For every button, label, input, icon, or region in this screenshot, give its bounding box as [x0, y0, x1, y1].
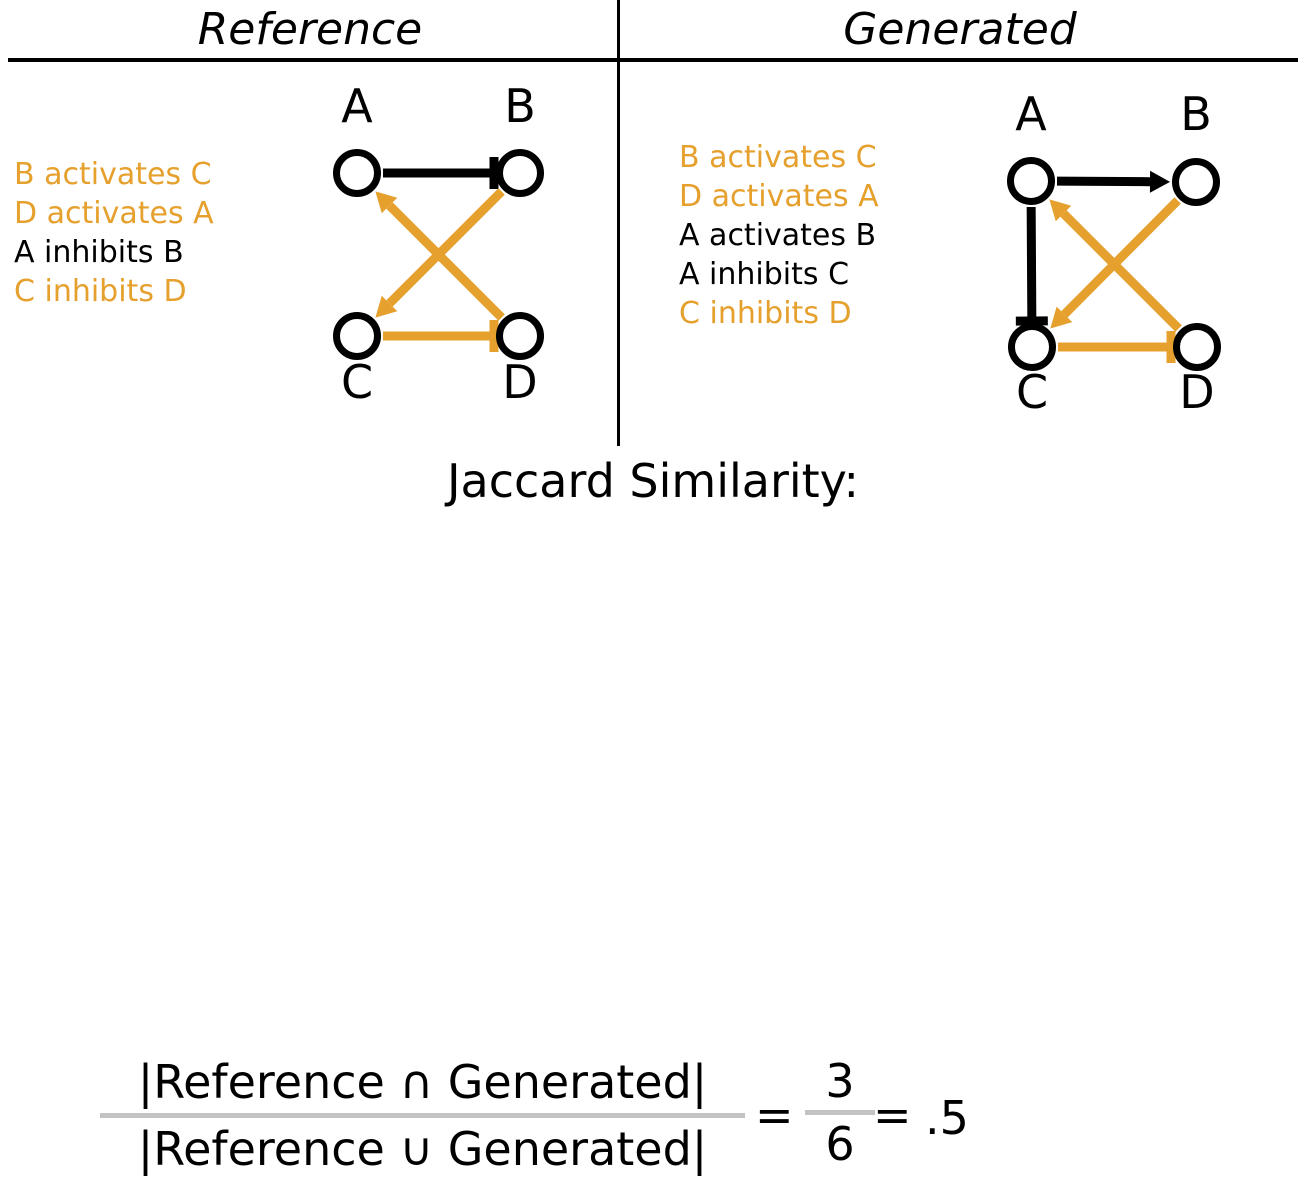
reference-node-label-B: B: [504, 80, 536, 133]
reference-relation-item: C inhibits D: [14, 272, 214, 311]
generated-relation-item: D activates A: [679, 177, 879, 216]
result-fraction-bar: [805, 1110, 875, 1115]
generated-node-C: [1012, 327, 1053, 368]
fraction-denominator: |Reference ∪ Generated|: [100, 1120, 745, 1178]
reference-node-label-A: A: [341, 80, 373, 133]
generated-node-label-D: D: [1179, 365, 1214, 419]
reference-relation-item: A inhibits B: [14, 233, 214, 272]
equals-sign-1: =: [755, 1090, 794, 1140]
fraction-numerator: |Reference ∩ Generated|: [100, 1053, 745, 1111]
result-fraction-numerator: 3: [805, 1053, 875, 1109]
jaccard-similarity-title: Jaccard Similarity:: [0, 455, 1306, 507]
generated-node-D: [1177, 327, 1218, 368]
generated-relation-item: B activates C: [679, 138, 879, 177]
generated-graph-svg: ABCD: [960, 90, 1260, 430]
generated-edge-C-inhibits-D: [1058, 331, 1171, 363]
reference-node-label-D: D: [502, 355, 537, 409]
generated-node-label-B: B: [1180, 90, 1212, 141]
reference-edge-A-inhibits-B: [383, 157, 494, 189]
panel-title-reference: Reference: [60, 8, 560, 52]
generated-network-graph: ABCD: [960, 90, 1260, 430]
reference-relation-item: D activates A: [14, 194, 214, 233]
generated-node-label-A: A: [1015, 90, 1047, 141]
jaccard-result-value: .5: [925, 1093, 969, 1143]
reference-node-D: [500, 316, 541, 357]
reference-node-label-C: C: [341, 355, 373, 409]
reference-edge-C-inhibits-D: [383, 320, 494, 352]
reference-graph-svg: ABCD: [290, 80, 590, 420]
generated-node-B: [1176, 162, 1217, 203]
header-divider-horizontal: [8, 58, 1298, 62]
result-fraction-denominator: 6: [805, 1116, 875, 1172]
panel-title-generated: Generated: [700, 8, 1220, 52]
generated-node-A: [1011, 161, 1052, 202]
generated-node-label-C: C: [1016, 365, 1048, 419]
generated-arrowhead-icon: [1150, 171, 1170, 193]
reference-relation-list: B activates CD activates AA inhibits BC …: [14, 155, 214, 311]
reference-node-A: [337, 153, 378, 194]
main-fraction: |Reference ∩ Generated| |Reference ∪ Gen…: [100, 1053, 745, 1178]
reference-node-C: [337, 316, 378, 357]
reference-relation-item: B activates C: [14, 155, 214, 194]
generated-relation-list: B activates CD activates AA activates BA…: [679, 138, 879, 333]
reference-node-B: [500, 153, 541, 194]
panel-divider-vertical: [617, 0, 620, 446]
generated-relation-item: C inhibits D: [679, 294, 879, 333]
generated-edge-A-inhibits-C: [1016, 207, 1048, 321]
figure-canvas: Reference Generated B activates CD activ…: [0, 0, 1306, 660]
equals-sign-2: =: [873, 1090, 912, 1140]
jaccard-formula: |Reference ∩ Generated| |Reference ∪ Gen…: [0, 525, 1306, 655]
generated-relation-item: A activates B: [679, 216, 879, 255]
reference-network-graph: ABCD: [290, 80, 590, 420]
generated-relation-item: A inhibits C: [679, 255, 879, 294]
generated-edge-A-activates-B: [1057, 171, 1170, 193]
result-fraction: 3 6: [805, 1053, 875, 1172]
fraction-bar: [100, 1113, 745, 1118]
